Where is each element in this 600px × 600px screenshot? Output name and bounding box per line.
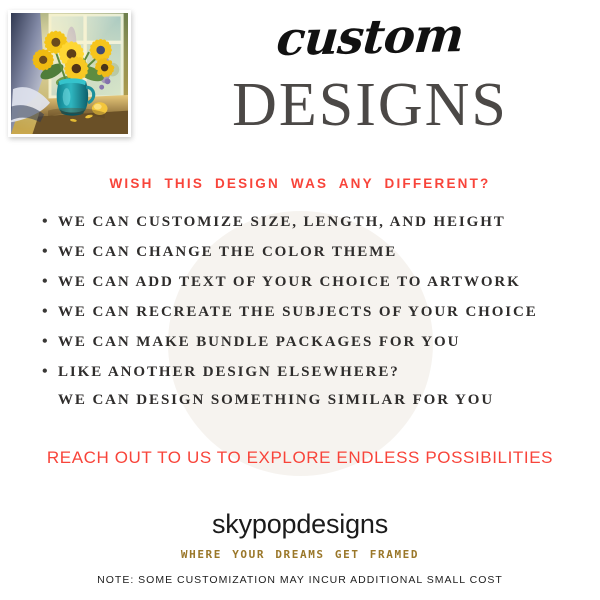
list-item: • WE CAN CHANGE THE COLOR THEME xyxy=(42,244,580,261)
list-item-label: WE CAN DESIGN SOMETHING SIMILAR FOR YOU xyxy=(58,392,580,409)
product-artwork-thumbnail[interactable] xyxy=(8,10,131,137)
bullet-icon: • xyxy=(42,364,58,380)
brand-tagline: WHERE YOUR DREAMS GET FRAMED xyxy=(0,548,600,561)
call-to-action-text: REACH OUT TO US TO EXPLORE ENDLESS POSSI… xyxy=(0,448,600,468)
list-item: • WE CAN MAKE BUNDLE PACKAGES FOR YOU xyxy=(42,334,580,351)
bullet-icon: • xyxy=(42,244,58,260)
header-script-word: custom xyxy=(138,9,600,66)
artwork-image xyxy=(11,13,128,134)
bullet-icon: • xyxy=(42,334,58,350)
list-item-label: WE CAN ADD TEXT OF YOUR CHOICE TO ARTWOR… xyxy=(58,274,580,291)
list-item: • WE CAN RECREATE THE SUBJECTS OF YOUR C… xyxy=(42,304,580,321)
feature-list: • WE CAN CUSTOMIZE SIZE, LENGTH, AND HEI… xyxy=(42,214,580,422)
page-header: custom DESIGNS xyxy=(140,14,600,138)
subheadline: WISH THIS DESIGN WAS ANY DIFFERENT? xyxy=(0,176,600,191)
bullet-icon: • xyxy=(42,304,58,320)
list-item: • WE CAN ADD TEXT OF YOUR CHOICE TO ARTW… xyxy=(42,274,580,291)
list-item: • LIKE ANOTHER DESIGN ELSEWHERE? xyxy=(42,364,580,381)
bullet-icon: • xyxy=(42,214,58,230)
bullet-icon: • xyxy=(42,274,58,290)
list-item-continuation: WE CAN DESIGN SOMETHING SIMILAR FOR YOU xyxy=(42,392,580,409)
list-item: • WE CAN CUSTOMIZE SIZE, LENGTH, AND HEI… xyxy=(42,214,580,231)
list-item-label: LIKE ANOTHER DESIGN ELSEWHERE? xyxy=(58,364,580,381)
footer-note: NOTE: SOME CUSTOMIZATION MAY INCUR ADDIT… xyxy=(0,574,600,586)
list-item-label: WE CAN CHANGE THE COLOR THEME xyxy=(58,244,580,261)
page-title: DESIGNS xyxy=(140,73,600,138)
brand-name: skypopdesigns xyxy=(0,509,600,540)
list-item-label: WE CAN CUSTOMIZE SIZE, LENGTH, AND HEIGH… xyxy=(58,214,580,231)
list-item-label: WE CAN MAKE BUNDLE PACKAGES FOR YOU xyxy=(58,334,580,351)
list-item-label: WE CAN RECREATE THE SUBJECTS OF YOUR CHO… xyxy=(58,304,580,321)
sunflower-painting-icon xyxy=(11,13,128,134)
